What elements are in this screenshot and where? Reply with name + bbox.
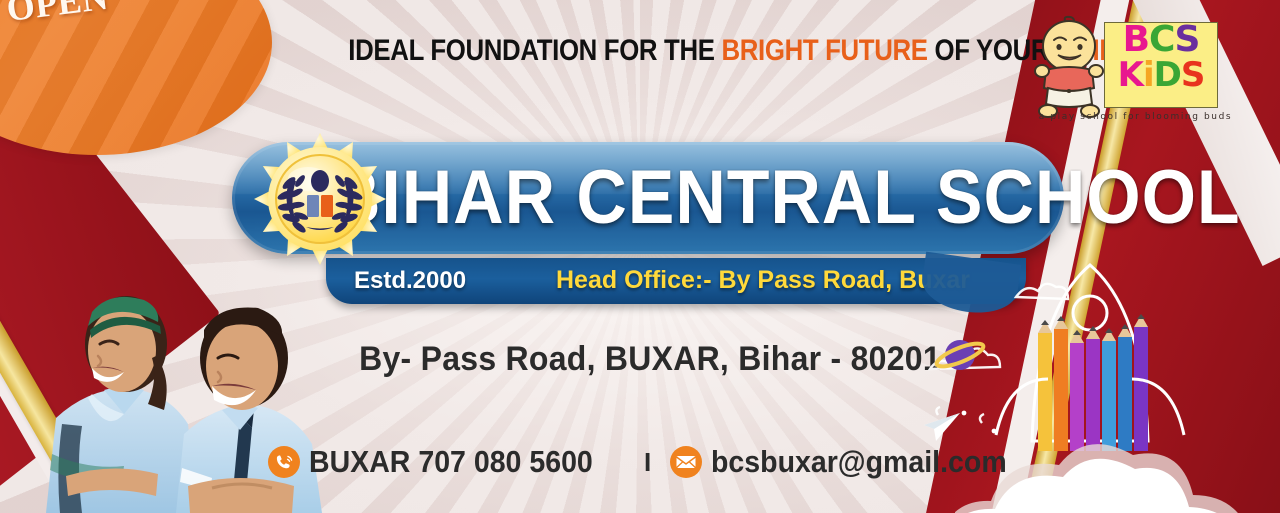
- contact-row: BUXAR 707 080 5600 I bcsbuxar@gmail.com: [300, 444, 1000, 480]
- kids-letter-k: K: [1118, 55, 1143, 95]
- tagline: IDEAL FOUNDATION FOR THE BRIGHT FUTURE O…: [348, 34, 941, 68]
- school-address: By- Pass Road, BUXAR, Bihar - 80201: [321, 340, 979, 379]
- envelope-icon: [669, 445, 703, 479]
- bcs-kids-wordmark-box: BCS KiDS: [1104, 22, 1218, 108]
- page-title: BIHAR CENTRAL SCHOOL: [330, 148, 1002, 248]
- bcs-kids-logo[interactable]: BCS KiDS a play school for blooming buds: [1028, 6, 1243, 138]
- school-crest-emblem: [252, 131, 388, 267]
- school-banner: REGISTRATION OPEN IDEAL FOUNDATION FOR T…: [0, 0, 1280, 513]
- registration-open-text: REGISTRATION OPEN: [0, 0, 184, 36]
- head-office-label: Head Office:- By Pass Road, Buxar: [556, 266, 970, 295]
- established-label: Estd.2000: [354, 267, 466, 295]
- phone-icon: [267, 445, 301, 479]
- bcs-letters-bottom: KiDS: [1105, 55, 1217, 95]
- tagline-part-1: IDEAL FOUNDATION FOR THE: [348, 34, 721, 67]
- bcs-letter-b: B: [1123, 19, 1149, 60]
- bcs-letters-top: BCS: [1105, 19, 1217, 60]
- kids-letter-i: i: [1143, 55, 1154, 95]
- kids-letter-d: D: [1154, 55, 1181, 95]
- cloud-shape: [955, 403, 1255, 513]
- phone-number[interactable]: BUXAR 707 080 5600: [309, 444, 593, 480]
- tagline-highlight-1: BRIGHT FUTURE: [721, 34, 927, 67]
- bcs-kids-tagline: a play school for blooming buds: [1028, 112, 1243, 122]
- baby-icon: [1030, 14, 1108, 118]
- bcs-letter-c: C: [1149, 19, 1174, 60]
- registration-open-badge[interactable]: REGISTRATION OPEN: [0, 0, 272, 155]
- registration-line-2: OPEN: [0, 0, 184, 36]
- bcs-letter-s: S: [1174, 19, 1199, 60]
- kids-letter-s: S: [1181, 55, 1205, 95]
- contact-separator: I: [644, 447, 651, 478]
